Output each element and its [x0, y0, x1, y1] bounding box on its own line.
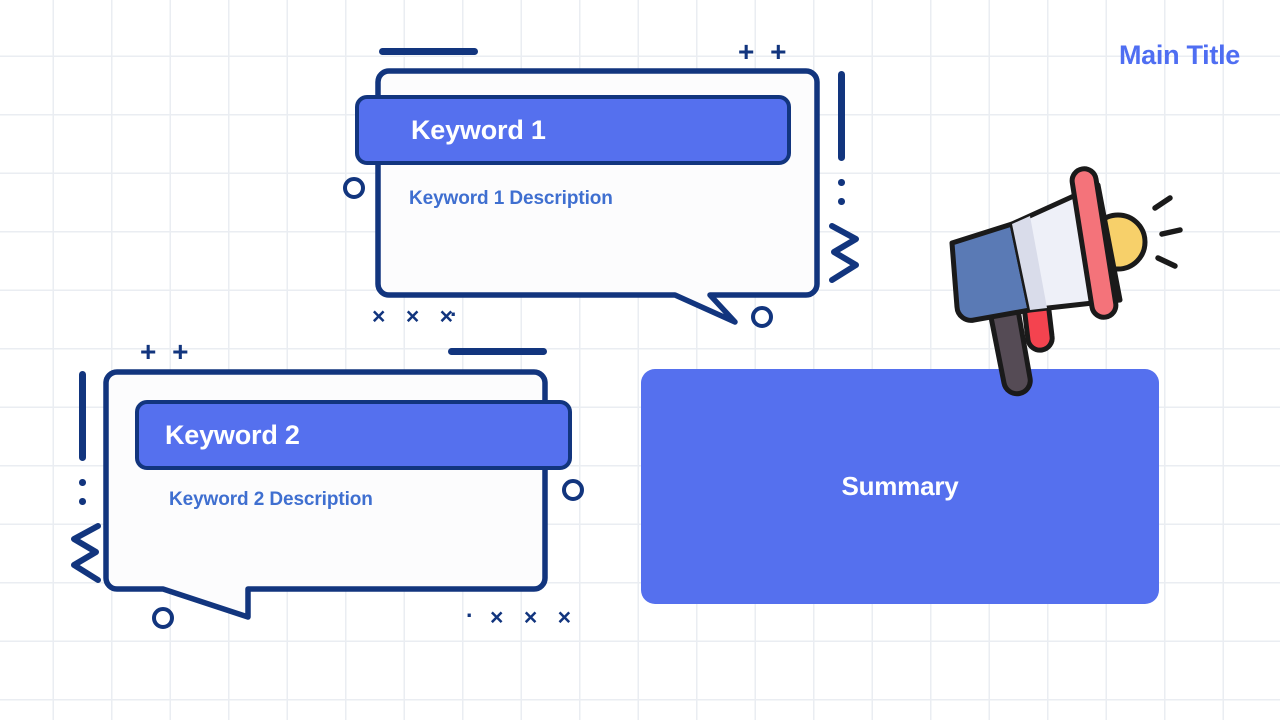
card-keyword-2[interactable]: Keyword 2 Keyword 2 Description: [103, 369, 553, 629]
card-keyword-1-header[interactable]: Keyword 1: [355, 95, 791, 165]
card-keyword-1-description: Keyword 1 Description: [409, 188, 613, 210]
dash-decoration-top-left: [379, 48, 478, 55]
ring-decoration-bubble2-right: [562, 479, 584, 501]
dot-decoration-right-1: [838, 179, 845, 186]
card-keyword-2-description: Keyword 2 Description: [169, 489, 373, 511]
plus-decoration-top-right: + +: [738, 38, 790, 66]
card-keyword-1-title: Keyword 1: [411, 115, 546, 146]
summary-label: Summary: [841, 471, 958, 502]
zigzag-decoration-left: [66, 522, 102, 586]
vertical-line-decoration-left: [79, 371, 86, 461]
dash-decoration-bubble2-top-right: [448, 348, 547, 355]
card-keyword-2-title: Keyword 2: [165, 420, 300, 451]
vertical-line-decoration-right: [838, 71, 845, 161]
card-keyword-1[interactable]: Keyword 1 Keyword 1 Description: [375, 68, 825, 328]
dot-decoration-left-1: [79, 479, 86, 486]
summary-card[interactable]: Summary: [641, 369, 1159, 604]
dot-decoration-left-2: [79, 498, 86, 505]
dot-decoration-right-2: [838, 198, 845, 205]
page-title: Main Title: [1119, 40, 1240, 71]
ring-decoration-bubble1-left: [343, 177, 365, 199]
card-keyword-2-header[interactable]: Keyword 2: [135, 400, 572, 470]
megaphone-icon: [930, 150, 1200, 400]
plus-decoration-bubble2-top: + +: [140, 338, 192, 366]
